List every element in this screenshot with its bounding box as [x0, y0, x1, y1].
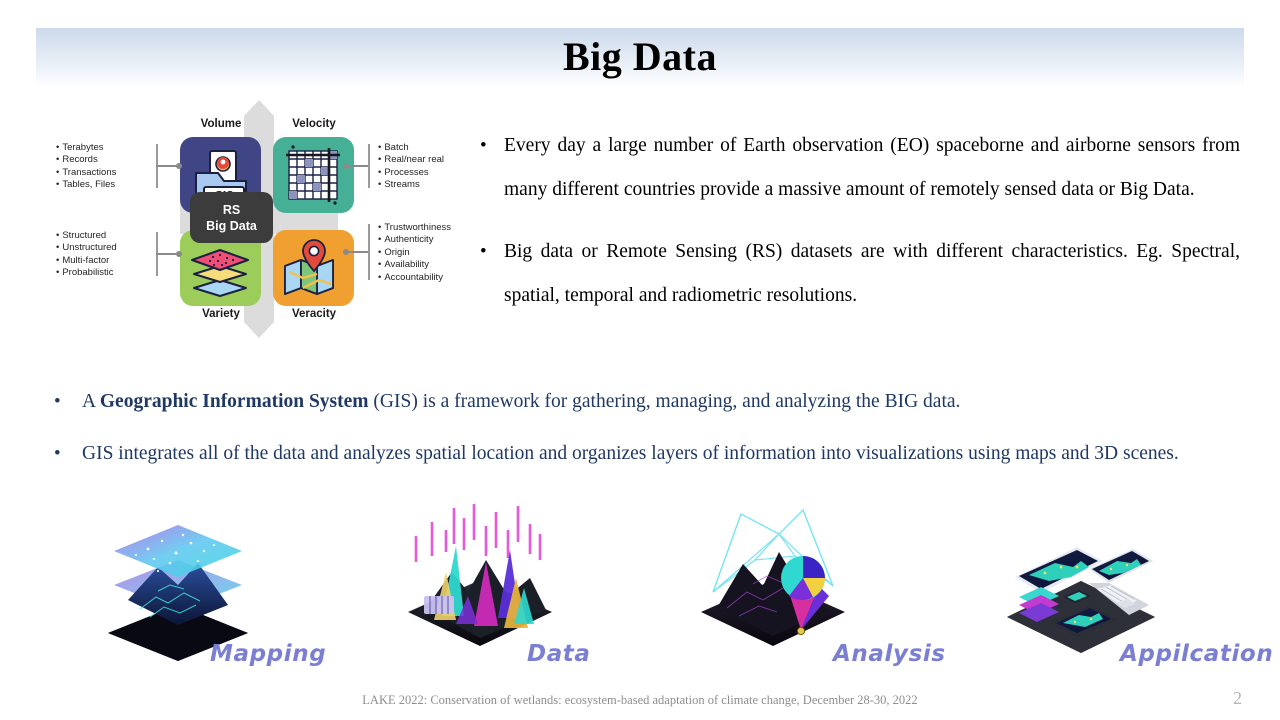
illustration-label-analysis: Analysis — [833, 641, 946, 667]
illustration-data — [390, 500, 605, 660]
connector-dot-velocity — [343, 163, 349, 169]
gis-definition-suffix: (GIS) is a framework for gathering, mana… — [369, 391, 961, 412]
connector-line-variety — [156, 253, 178, 255]
connector-bar-velocity — [368, 144, 370, 188]
page-number: 2 — [1233, 688, 1242, 709]
list-item: Tables, Files — [56, 179, 116, 191]
list-item: Records — [56, 154, 116, 166]
connector-dot-volume — [176, 163, 182, 169]
bullet-item: Big data or Remote Sensing (RS) datasets… — [478, 230, 1240, 318]
connector-dot-variety — [176, 251, 182, 257]
illustration-label-mapping: Mapping — [210, 641, 326, 667]
list-item: Terabytes — [56, 142, 116, 154]
quadrant-heading-velocity: Velocity — [264, 118, 364, 130]
center-label-line2: Big Data — [190, 218, 273, 234]
illustration-label-data: Data — [527, 641, 591, 667]
list-item: Availability — [378, 259, 451, 271]
big-data-4v-infographic: GIS — [52, 112, 464, 324]
center-label-rs-big-data: RS Big Data — [190, 192, 273, 243]
list-item: Accountability — [378, 272, 451, 284]
quadrant-items-variety: Structured Unstructured Multi-factor Pro… — [56, 230, 117, 280]
connector-line-veracity — [346, 251, 368, 253]
quadrant-tile-veracity — [273, 230, 354, 306]
title-banner: Big Data — [36, 28, 1244, 88]
illustration-analysis — [683, 500, 898, 660]
bullet-item-gis-integration: GIS integrates all of the data and analy… — [46, 430, 1246, 478]
list-item: Multi-factor — [56, 255, 117, 267]
connector-line-velocity — [346, 165, 368, 167]
list-item: Real/near real — [378, 154, 444, 166]
center-label-line1: RS — [190, 202, 273, 218]
footer-conference-note: LAKE 2022: Conservation of wetlands: eco… — [0, 693, 1280, 708]
page-title: Big Data — [36, 28, 1244, 88]
quadrant-items-volume: Terabytes Records Transactions Tables, F… — [56, 142, 116, 192]
list-item: Unstructured — [56, 242, 117, 254]
right-bullet-list: Every day a large number of Earth observ… — [478, 124, 1240, 336]
list-item: Batch — [378, 142, 444, 154]
list-item: Probabilistic — [56, 267, 117, 279]
quadrant-heading-variety: Variety — [171, 308, 271, 320]
list-item: Authenticity — [378, 234, 451, 246]
gis-definition-prefix: A — [82, 391, 100, 412]
arrow-head-up — [244, 100, 274, 116]
connector-line-volume — [156, 165, 178, 167]
connector-bar-veracity — [368, 224, 370, 280]
connector-dot-veracity — [343, 249, 349, 255]
lower-bullet-list: A Geographic Information System (GIS) is… — [46, 378, 1246, 482]
illustration-label-appilcation: Appilcation — [1120, 641, 1273, 667]
list-item: Trustworthiness — [378, 222, 451, 234]
terrain-wireframe-pie-icon — [683, 500, 898, 660]
quadrant-items-velocity: Batch Real/near real Processes Streams — [378, 142, 444, 192]
bullet-item-gis-definition: A Geographic Information System (GIS) is… — [46, 378, 1246, 426]
arrow-head-down — [244, 322, 274, 338]
quadrant-heading-volume: Volume — [171, 118, 271, 130]
list-item: Transactions — [56, 167, 116, 179]
list-item: Streams — [378, 179, 444, 191]
quadrant-items-veracity: Trustworthiness Authenticity Origin Avai… — [378, 222, 451, 284]
list-item: Processes — [378, 167, 444, 179]
quadrant-heading-veracity: Veracity — [264, 308, 364, 320]
map-pin-icon — [273, 230, 354, 306]
quadrant-tile-velocity — [273, 137, 354, 213]
list-item: Structured — [56, 230, 117, 242]
gis-definition-bold-term: Geographic Information System — [100, 391, 369, 412]
terrain-data-spikes-icon — [390, 500, 605, 660]
bullet-item: Every day a large number of Earth observ… — [478, 124, 1240, 212]
grid-matrix-icon — [273, 137, 354, 213]
list-item: Origin — [378, 247, 451, 259]
